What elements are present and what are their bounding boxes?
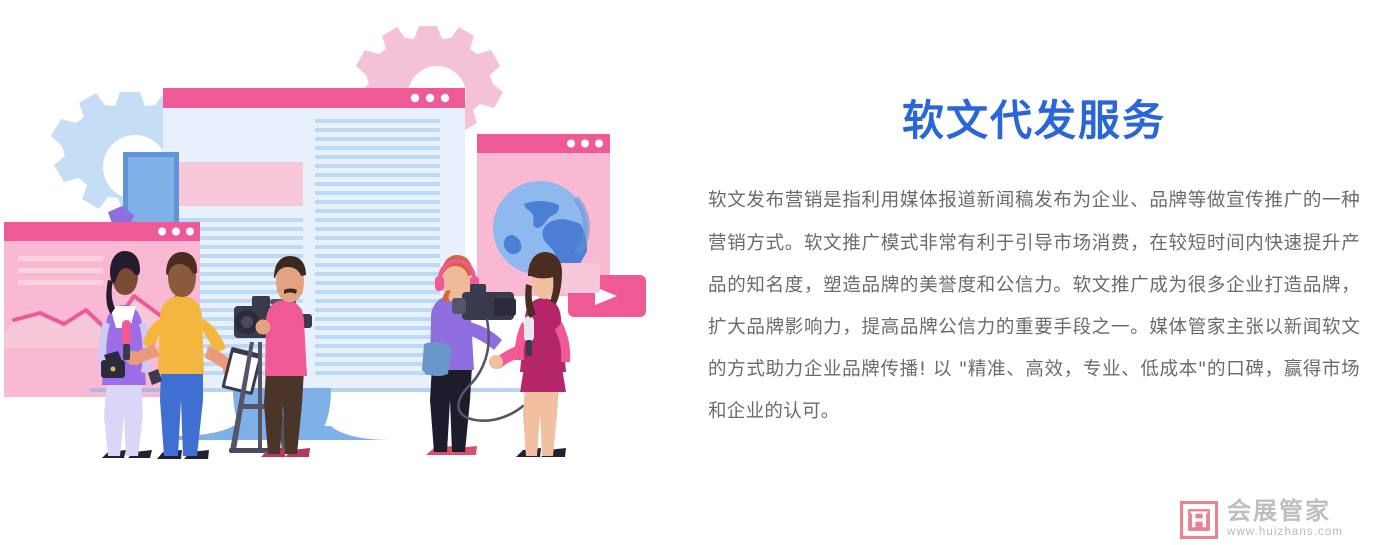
hero-illustration	[0, 0, 680, 500]
description-paragraph: 软文发布营销是指利用媒体报道新闻稿发布为企业、品牌等做宣传推广的一种营销方式。软…	[708, 180, 1360, 433]
promo-banner: 软文代发服务 软文发布营销是指利用媒体报道新闻稿发布为企业、品牌等做宣传推广的一…	[0, 0, 1400, 545]
content-column: 软文代发服务 软文发布营销是指利用媒体报道新闻稿发布为企业、品牌等做宣传推广的一…	[708, 96, 1360, 433]
page-title: 软文代发服务	[708, 96, 1360, 146]
logo-company-name: 会展管家	[1227, 499, 1343, 523]
logo-mark-icon	[1180, 501, 1218, 539]
brand-logo[interactable]: 会展管家 www.huizhans.com	[1180, 499, 1343, 541]
logo-website-url: www.huizhans.com	[1227, 524, 1343, 540]
logo-text-block: 会展管家 www.huizhans.com	[1227, 499, 1343, 541]
